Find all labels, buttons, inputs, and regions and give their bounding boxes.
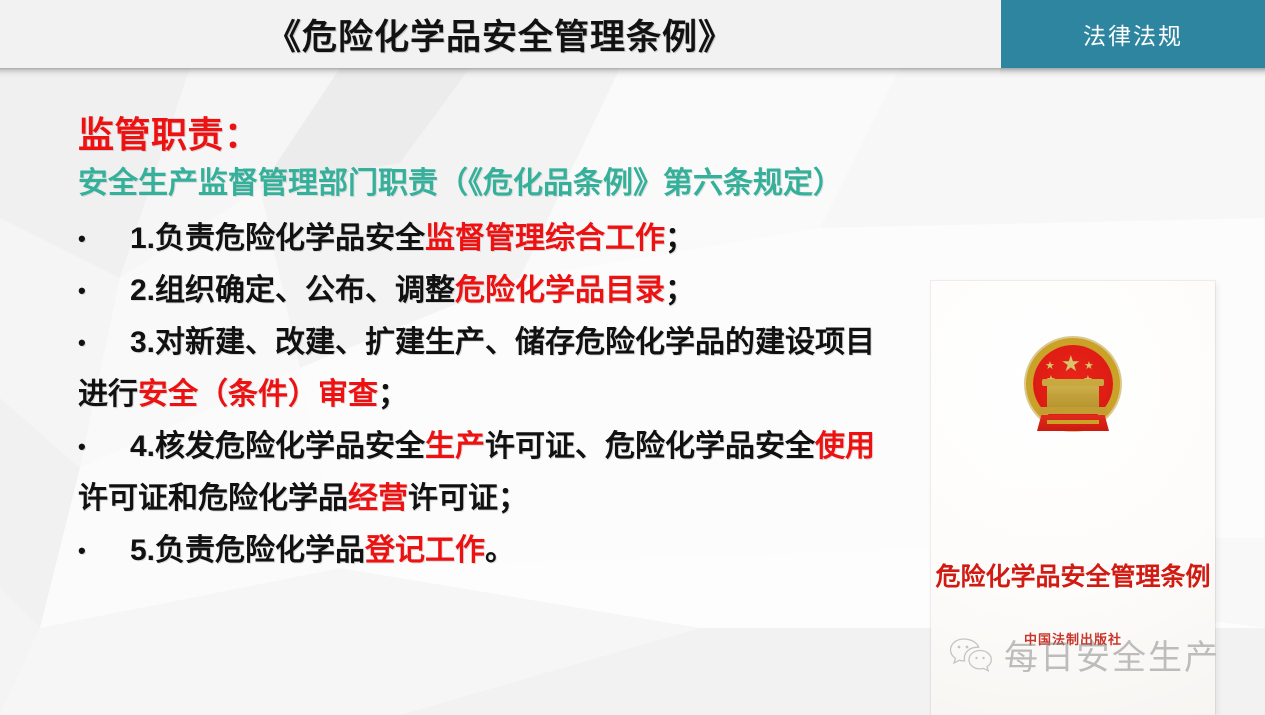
highlight-text: 安全（条件）审查 [138, 378, 378, 411]
book-title: 危险化学品安全管理条例 [931, 557, 1215, 593]
bullet-marker-icon: • [78, 525, 130, 577]
body-text: ； [665, 274, 695, 307]
body-text: 。 [485, 534, 515, 567]
list-item-number: 1. [130, 222, 155, 255]
list-item-number: 2. [130, 274, 155, 307]
section-heading-secondary: 安全生产监督管理部门职责（《危化品条例》第六条规定） [78, 165, 878, 203]
content-block: 监管职责： 安全生产监督管理部门职责（《危化品条例》第六条规定） •1.负责危险… [78, 112, 878, 577]
highlight-text: 登记工作 [365, 534, 485, 567]
list-item-text: 5.负责危险化学品登记工作。 [130, 534, 515, 567]
body-text: 许可证、危险化学品安全 [485, 430, 815, 463]
list-item-text: 1.负责危险化学品安全监督管理综合工作； [130, 222, 695, 255]
body-text: 组织确定、公布、调整 [155, 274, 455, 307]
highlight-text: 生产 [425, 430, 485, 463]
list-item: •4.核发危险化学品安全生产许可证、危险化学品安全使用许可证和危险化学品经营许可… [78, 421, 878, 525]
body-text: 负责危险化学品安全 [155, 222, 425, 255]
bullet-marker-icon: • [78, 421, 130, 473]
list-item-text: 4.核发危险化学品安全生产许可证、危险化学品安全使用许可证和危险化学品经营许可证… [78, 430, 875, 515]
list-item: •1.负责危险化学品安全监督管理综合工作； [78, 213, 878, 265]
body-text: 核发危险化学品安全 [155, 430, 425, 463]
list-item-text: 2.组织确定、公布、调整危险化学品目录； [130, 274, 695, 307]
body-text: ； [378, 378, 408, 411]
book-cover-inner: ★ ★ ★ ★ ★ 危险化学品安全管理条例 中国法制出版社 [931, 281, 1215, 715]
list-item-number: 4. [130, 430, 155, 463]
bullet-marker-icon: • [78, 213, 130, 265]
duties-list: •1.负责危险化学品安全监督管理综合工作；•2.组织确定、公布、调整危险化学品目… [78, 213, 878, 577]
book-publisher: 中国法制出版社 [931, 629, 1215, 648]
list-item: •3.对新建、改建、扩建生产、储存危险化学品的建设项目进行安全（条件）审查； [78, 317, 878, 421]
list-item-text: 3.对新建、改建、扩建生产、储存危险化学品的建设项目进行安全（条件）审查； [78, 326, 875, 411]
list-item-number: 3. [130, 326, 155, 359]
list-item: •2.组织确定、公布、调整危险化学品目录； [78, 265, 878, 317]
bullet-marker-icon: • [78, 317, 130, 369]
page-title: 《危险化学品安全管理条例》 [0, 0, 1000, 68]
highlight-text: 危险化学品目录 [455, 274, 665, 307]
section-badge: 法律法规 [1001, 0, 1265, 68]
list-item-number: 5. [130, 534, 155, 567]
body-text: ； [665, 222, 695, 255]
book-cover-image: ★ ★ ★ ★ ★ 危险化学品安全管理条例 中国法制出版社 [931, 281, 1215, 715]
highlight-text: 监督管理综合工作 [425, 222, 665, 255]
section-heading-primary: 监管职责： [78, 112, 878, 157]
national-emblem-icon: ★ ★ ★ ★ ★ [1019, 341, 1127, 453]
slide-root: 《危险化学品安全管理条例》 法律法规 监管职责： 安全生产监督管理部门职责（《危… [0, 0, 1265, 715]
body-text: 许可证和危险化学品 [78, 482, 348, 515]
highlight-text: 经营 [348, 482, 408, 515]
list-item: •5.负责危险化学品登记工作。 [78, 525, 878, 577]
bullet-marker-icon: • [78, 265, 130, 317]
highlight-text: 使用 [815, 430, 875, 463]
body-text: 负责危险化学品 [155, 534, 365, 567]
body-text: 许可证； [408, 482, 528, 515]
header-shadow-right [1000, 68, 1265, 76]
header-bar: 《危险化学品安全管理条例》 法律法规 [0, 0, 1265, 68]
